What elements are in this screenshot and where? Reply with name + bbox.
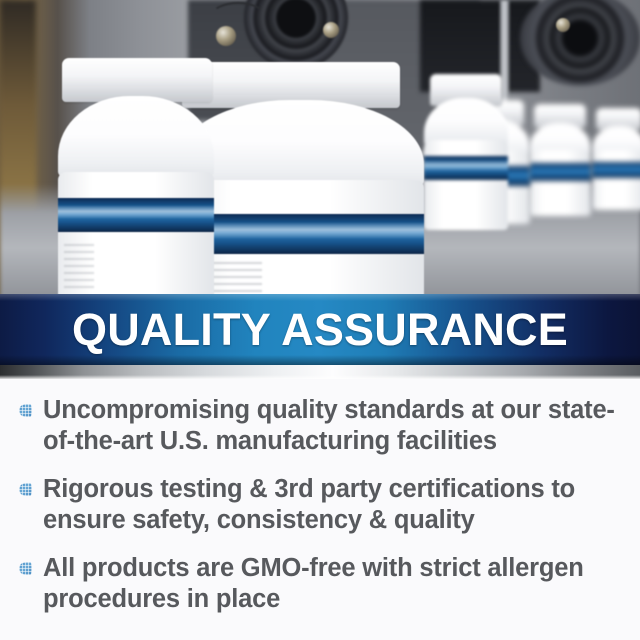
- quality-bullet-list: Uncompromising quality standards at our …: [0, 379, 640, 640]
- list-item: All products are GMO-free with strict al…: [0, 553, 640, 615]
- square-globe-icon: [19, 404, 32, 417]
- list-item-label: All products are GMO-free with strict al…: [43, 553, 633, 615]
- photo-wire: [210, 2, 266, 32]
- photo-bolt-2: [323, 22, 339, 38]
- square-globe-icon: [19, 483, 32, 496]
- list-item-label: Rigorous testing & 3rd party certificati…: [43, 474, 633, 536]
- square-globe-icon: [19, 562, 32, 575]
- manufacturing-line-photo: [0, 0, 640, 300]
- metallic-divider: [0, 365, 640, 379]
- list-item-label: Uncompromising quality standards at our …: [43, 395, 633, 457]
- list-item: Rigorous testing & 3rd party certificati…: [0, 474, 640, 536]
- page-title: QUALITY ASSURANCE: [0, 294, 640, 365]
- quality-assurance-banner: QUALITY ASSURANCE: [0, 294, 640, 365]
- list-item: Uncompromising quality standards at our …: [0, 395, 640, 457]
- photo-bolt-3: [556, 18, 570, 32]
- quality-assurance-infographic: QUALITY ASSURANCE Uncompromising quality…: [0, 0, 640, 640]
